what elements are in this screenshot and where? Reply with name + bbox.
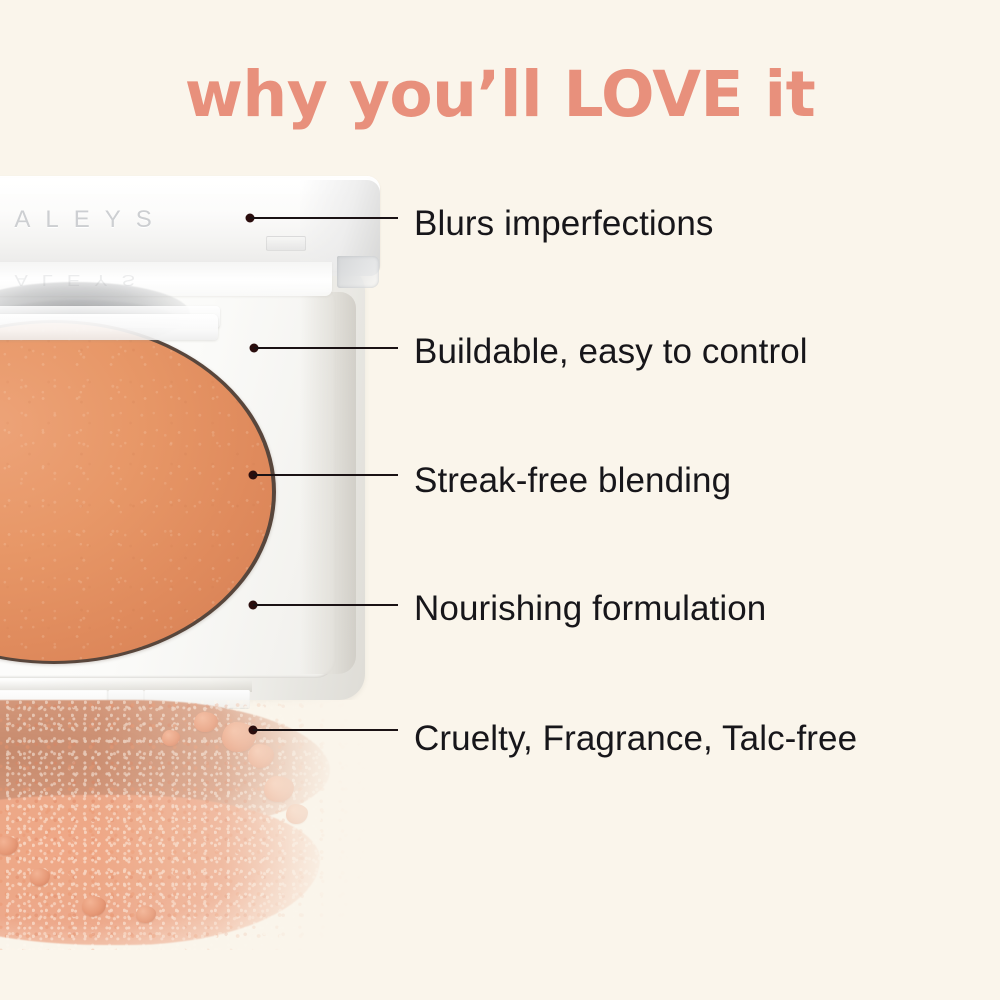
page-title: why you’ll LOVE it	[0, 62, 1000, 128]
product-photo: HALEYS HALEYS	[0, 0, 400, 1000]
callout-label-nourishing-formulation: Nourishing formulation	[414, 589, 766, 629]
callout-line-cruelty-fragrance-talc-free	[253, 729, 398, 731]
lid-tab	[266, 236, 306, 251]
callout-label-cruelty-fragrance-talc-free: Cruelty, Fragrance, Talc-free	[414, 719, 857, 759]
callout-label-buildable-easy-to-control: Buildable, easy to control	[414, 332, 808, 372]
callout-line-buildable-easy-to-control	[254, 347, 398, 349]
compact-base-rim	[300, 292, 356, 674]
callout-line-streak-free-blending	[253, 474, 398, 476]
infographic-canvas: HALEYS HALEYS	[0, 0, 1000, 1000]
powder-swatch	[0, 700, 370, 950]
lid-corner-glass	[337, 256, 379, 288]
brand-emboss-haleys: HALEYS	[0, 206, 167, 234]
callout-label-blurs-imperfections: Blurs imperfections	[414, 204, 714, 244]
powder-swatch-shimmer	[0, 700, 370, 950]
pan-clear-lip	[0, 314, 218, 340]
callout-line-blurs-imperfections	[250, 217, 398, 219]
callout-line-nourishing-formulation	[253, 604, 398, 606]
callout-label-streak-free-blending: Streak-free blending	[414, 461, 731, 501]
